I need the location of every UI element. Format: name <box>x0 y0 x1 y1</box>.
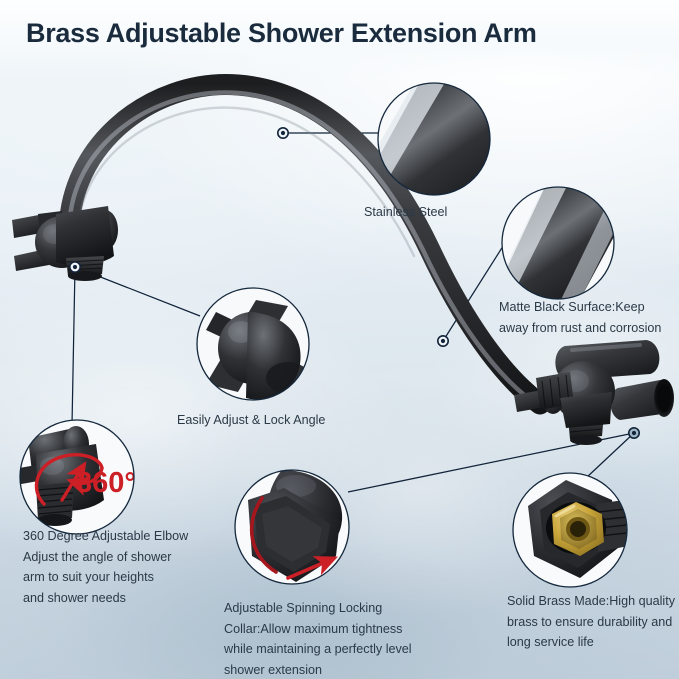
left-elbow-assembly <box>12 206 118 281</box>
callout-label-easily-adjust-lock-angle: Easily Adjust & Lock Angle <box>177 410 325 431</box>
callout-label-matte-black-surface: Matte Black Surface:Keep away from rust … <box>499 297 661 338</box>
callout-label-adjustable-spinning-locking-collar: Adjustable Spinning Locking Collar:Allow… <box>224 598 412 679</box>
infographic-canvas: 360° <box>0 0 679 679</box>
arm-highlight <box>69 92 536 404</box>
callout-label-stainless-steel: Stainless Steel <box>364 202 447 223</box>
page-title: Brass Adjustable Shower Extension Arm <box>26 18 537 49</box>
callout-label-solid-brass-made: Solid Brass Made:High quality brass to e… <box>507 591 675 653</box>
right-tee-assembly <box>514 340 674 445</box>
callout-label-360-degree-adjustable-elbow: 360 Degree Adjustable Elbow Adjust the a… <box>23 526 188 608</box>
